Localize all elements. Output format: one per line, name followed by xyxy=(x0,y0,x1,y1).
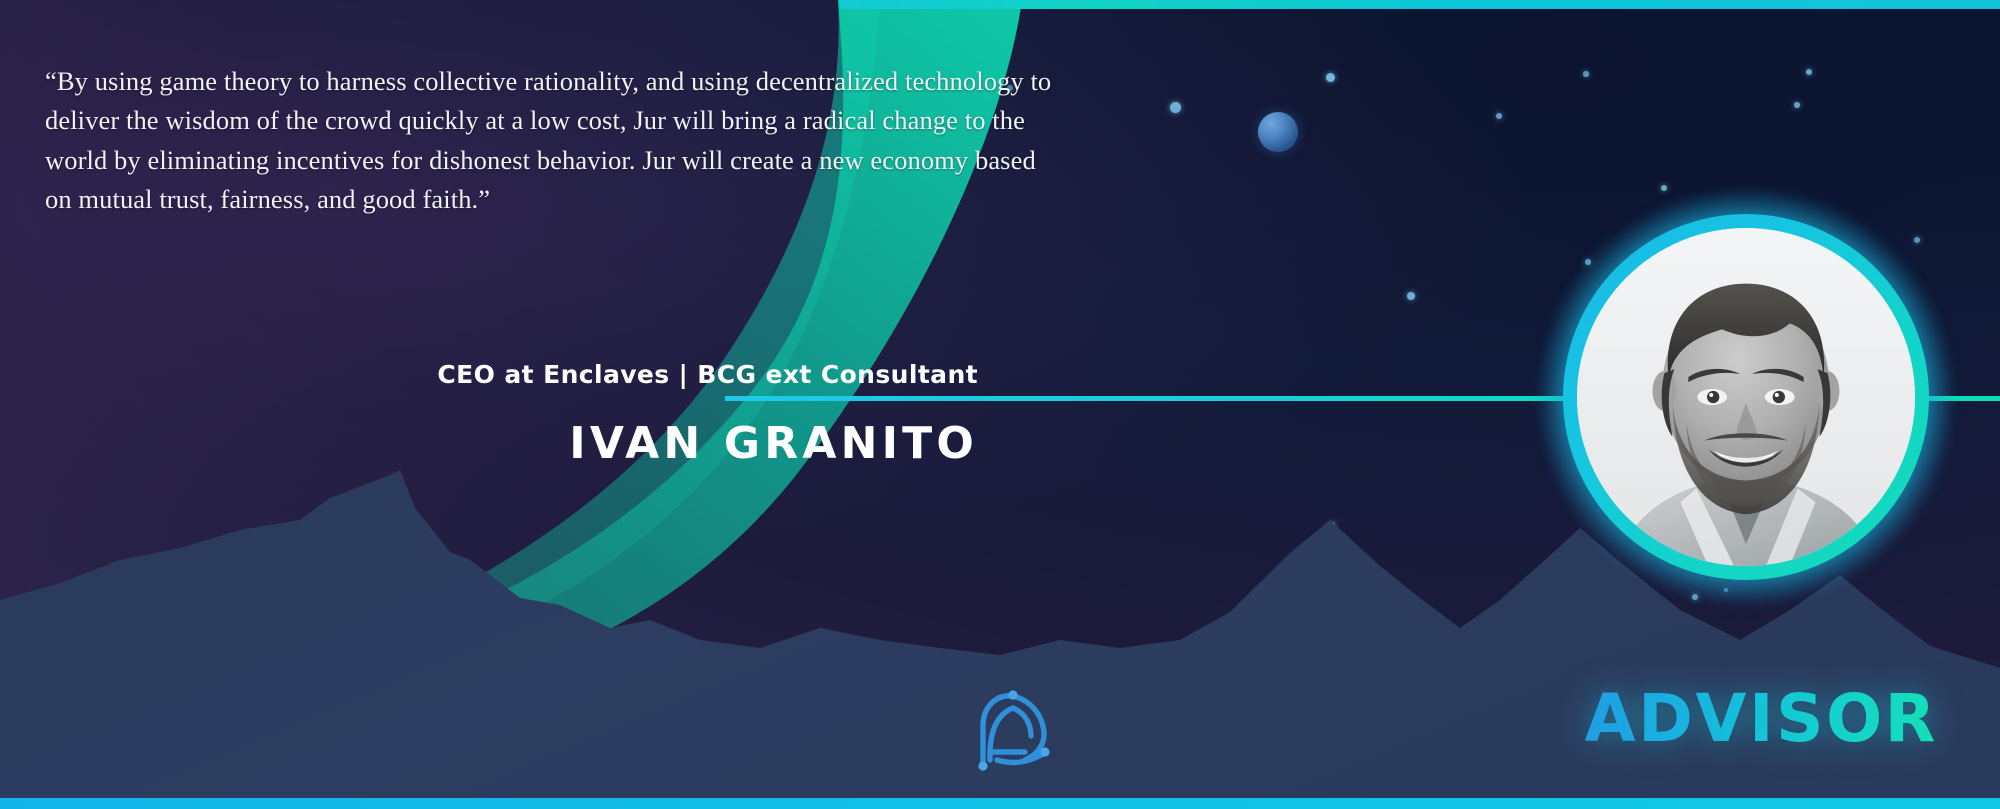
quote-text: “By using game theory to harness collect… xyxy=(45,62,1065,220)
jur-logo-icon xyxy=(955,682,1065,787)
top-accent-bar xyxy=(840,0,2000,9)
avatar-photo xyxy=(1577,228,1915,566)
advisor-card: “By using game theory to harness collect… xyxy=(0,0,2000,809)
avatar xyxy=(1563,214,1929,580)
person-name: IVAN GRANITO xyxy=(569,418,978,469)
bottom-accent-bar xyxy=(0,798,2000,809)
person-role: CEO at Enclaves | BCG ext Consultant xyxy=(437,360,978,389)
advisor-badge: ADVISOR xyxy=(1585,680,1938,757)
